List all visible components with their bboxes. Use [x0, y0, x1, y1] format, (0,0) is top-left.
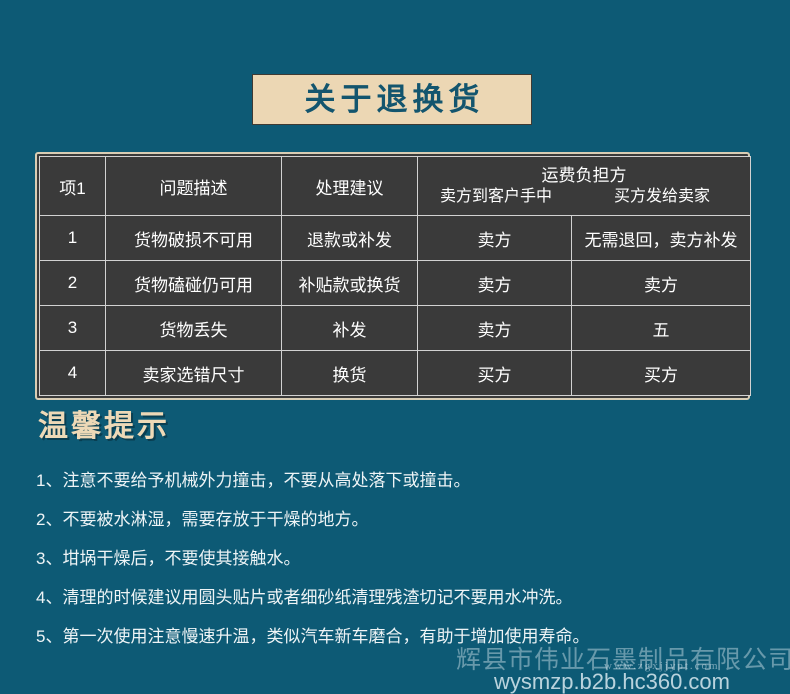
cell-index: 2 — [40, 261, 106, 306]
cell-ship-buyer: 无需退回，卖方补发 — [572, 216, 751, 261]
cell-ship-seller: 买方 — [418, 351, 572, 396]
header-shipping-group-label: 运费负担方 — [418, 166, 750, 186]
refund-policy-table-wrapper: 项1 问题描述 处理建议 运费负担方 卖方到客户手中 买方发给卖家 1 货物破损 — [35, 152, 750, 400]
header-index: 项1 — [40, 157, 106, 216]
cell-index: 4 — [40, 351, 106, 396]
tip-item: 2、不要被水淋湿，需要存放于干燥的地方。 — [36, 511, 756, 528]
cell-problem: 货物破损不可用 — [106, 216, 282, 261]
cell-ship-seller: 卖方 — [418, 306, 572, 351]
tip-item: 3、坩埚干燥后，不要使其接触水。 — [36, 550, 756, 567]
table-row: 4 卖家选错尺寸 换货 买方 买方 — [40, 351, 751, 396]
cell-advice: 退款或补发 — [282, 216, 418, 261]
table-row: 3 货物丢失 补发 卖方 五 — [40, 306, 751, 351]
table-row: 2 货物磕碰仍可用 补贴款或换货 卖方 卖方 — [40, 261, 751, 306]
tips-heading: 温馨提示 — [38, 412, 170, 442]
header-shipping-subcolumns: 卖方到客户手中 买方发给卖家 — [418, 188, 750, 206]
table-row: 1 货物破损不可用 退款或补发 卖方 无需退回，卖方补发 — [40, 216, 751, 261]
header-advice: 处理建议 — [282, 157, 418, 216]
table-header-row: 项1 问题描述 处理建议 运费负担方 卖方到客户手中 买方发给卖家 — [40, 157, 751, 216]
cell-ship-buyer: 卖方 — [572, 261, 751, 306]
cell-ship-seller: 卖方 — [418, 261, 572, 306]
cell-ship-buyer: 买方 — [572, 351, 751, 396]
cell-problem: 货物磕碰仍可用 — [106, 261, 282, 306]
cell-ship-seller: 卖方 — [418, 216, 572, 261]
tip-item: 1、注意不要给予机械外力撞击，不要从高处落下或撞击。 — [36, 472, 756, 489]
header-problem: 问题描述 — [106, 157, 282, 216]
refund-policy-table: 项1 问题描述 处理建议 运费负担方 卖方到客户手中 买方发给卖家 1 货物破损 — [39, 156, 751, 396]
tip-item: 5、第一次使用注意慢速升温，类似汽车新车磨合，有助于增加使用寿命。 — [36, 628, 756, 645]
cell-index: 1 — [40, 216, 106, 261]
header-shipping-buyer-to-seller: 买方发给卖家 — [574, 188, 750, 206]
table-header: 项1 问题描述 处理建议 运费负担方 卖方到客户手中 买方发给卖家 — [40, 157, 751, 216]
watermark-website-main: wysmzp.b2b.hc360.com — [494, 671, 730, 693]
cell-problem: 货物丢失 — [106, 306, 282, 351]
section-title-banner: 关于退换货 — [252, 74, 532, 125]
cell-advice: 换货 — [282, 351, 418, 396]
cell-problem: 卖家选错尺寸 — [106, 351, 282, 396]
cell-ship-buyer: 五 — [572, 306, 751, 351]
page-root: 关于退换货 项1 问题描述 处理建议 运费负担方 卖方到客户 — [0, 0, 790, 691]
cell-index: 3 — [40, 306, 106, 351]
header-shipping-seller-to-customer: 卖方到客户手中 — [418, 188, 574, 206]
header-shipping-party: 运费负担方 卖方到客户手中 买方发给卖家 — [418, 157, 751, 216]
tip-item: 4、清理的时候建议用圆头贴片或者细砂纸清理残渣切记不要用水冲洗。 — [36, 589, 756, 606]
cell-advice: 补发 — [282, 306, 418, 351]
cell-advice: 补贴款或换货 — [282, 261, 418, 306]
table-body: 1 货物破损不可用 退款或补发 卖方 无需退回，卖方补发 2 货物磕碰仍可用 补… — [40, 216, 751, 396]
page-title: 关于退换货 — [300, 84, 485, 115]
tips-list: 1、注意不要给予机械外力撞击，不要从高处落下或撞击。 2、不要被水淋湿，需要存放… — [36, 472, 756, 667]
